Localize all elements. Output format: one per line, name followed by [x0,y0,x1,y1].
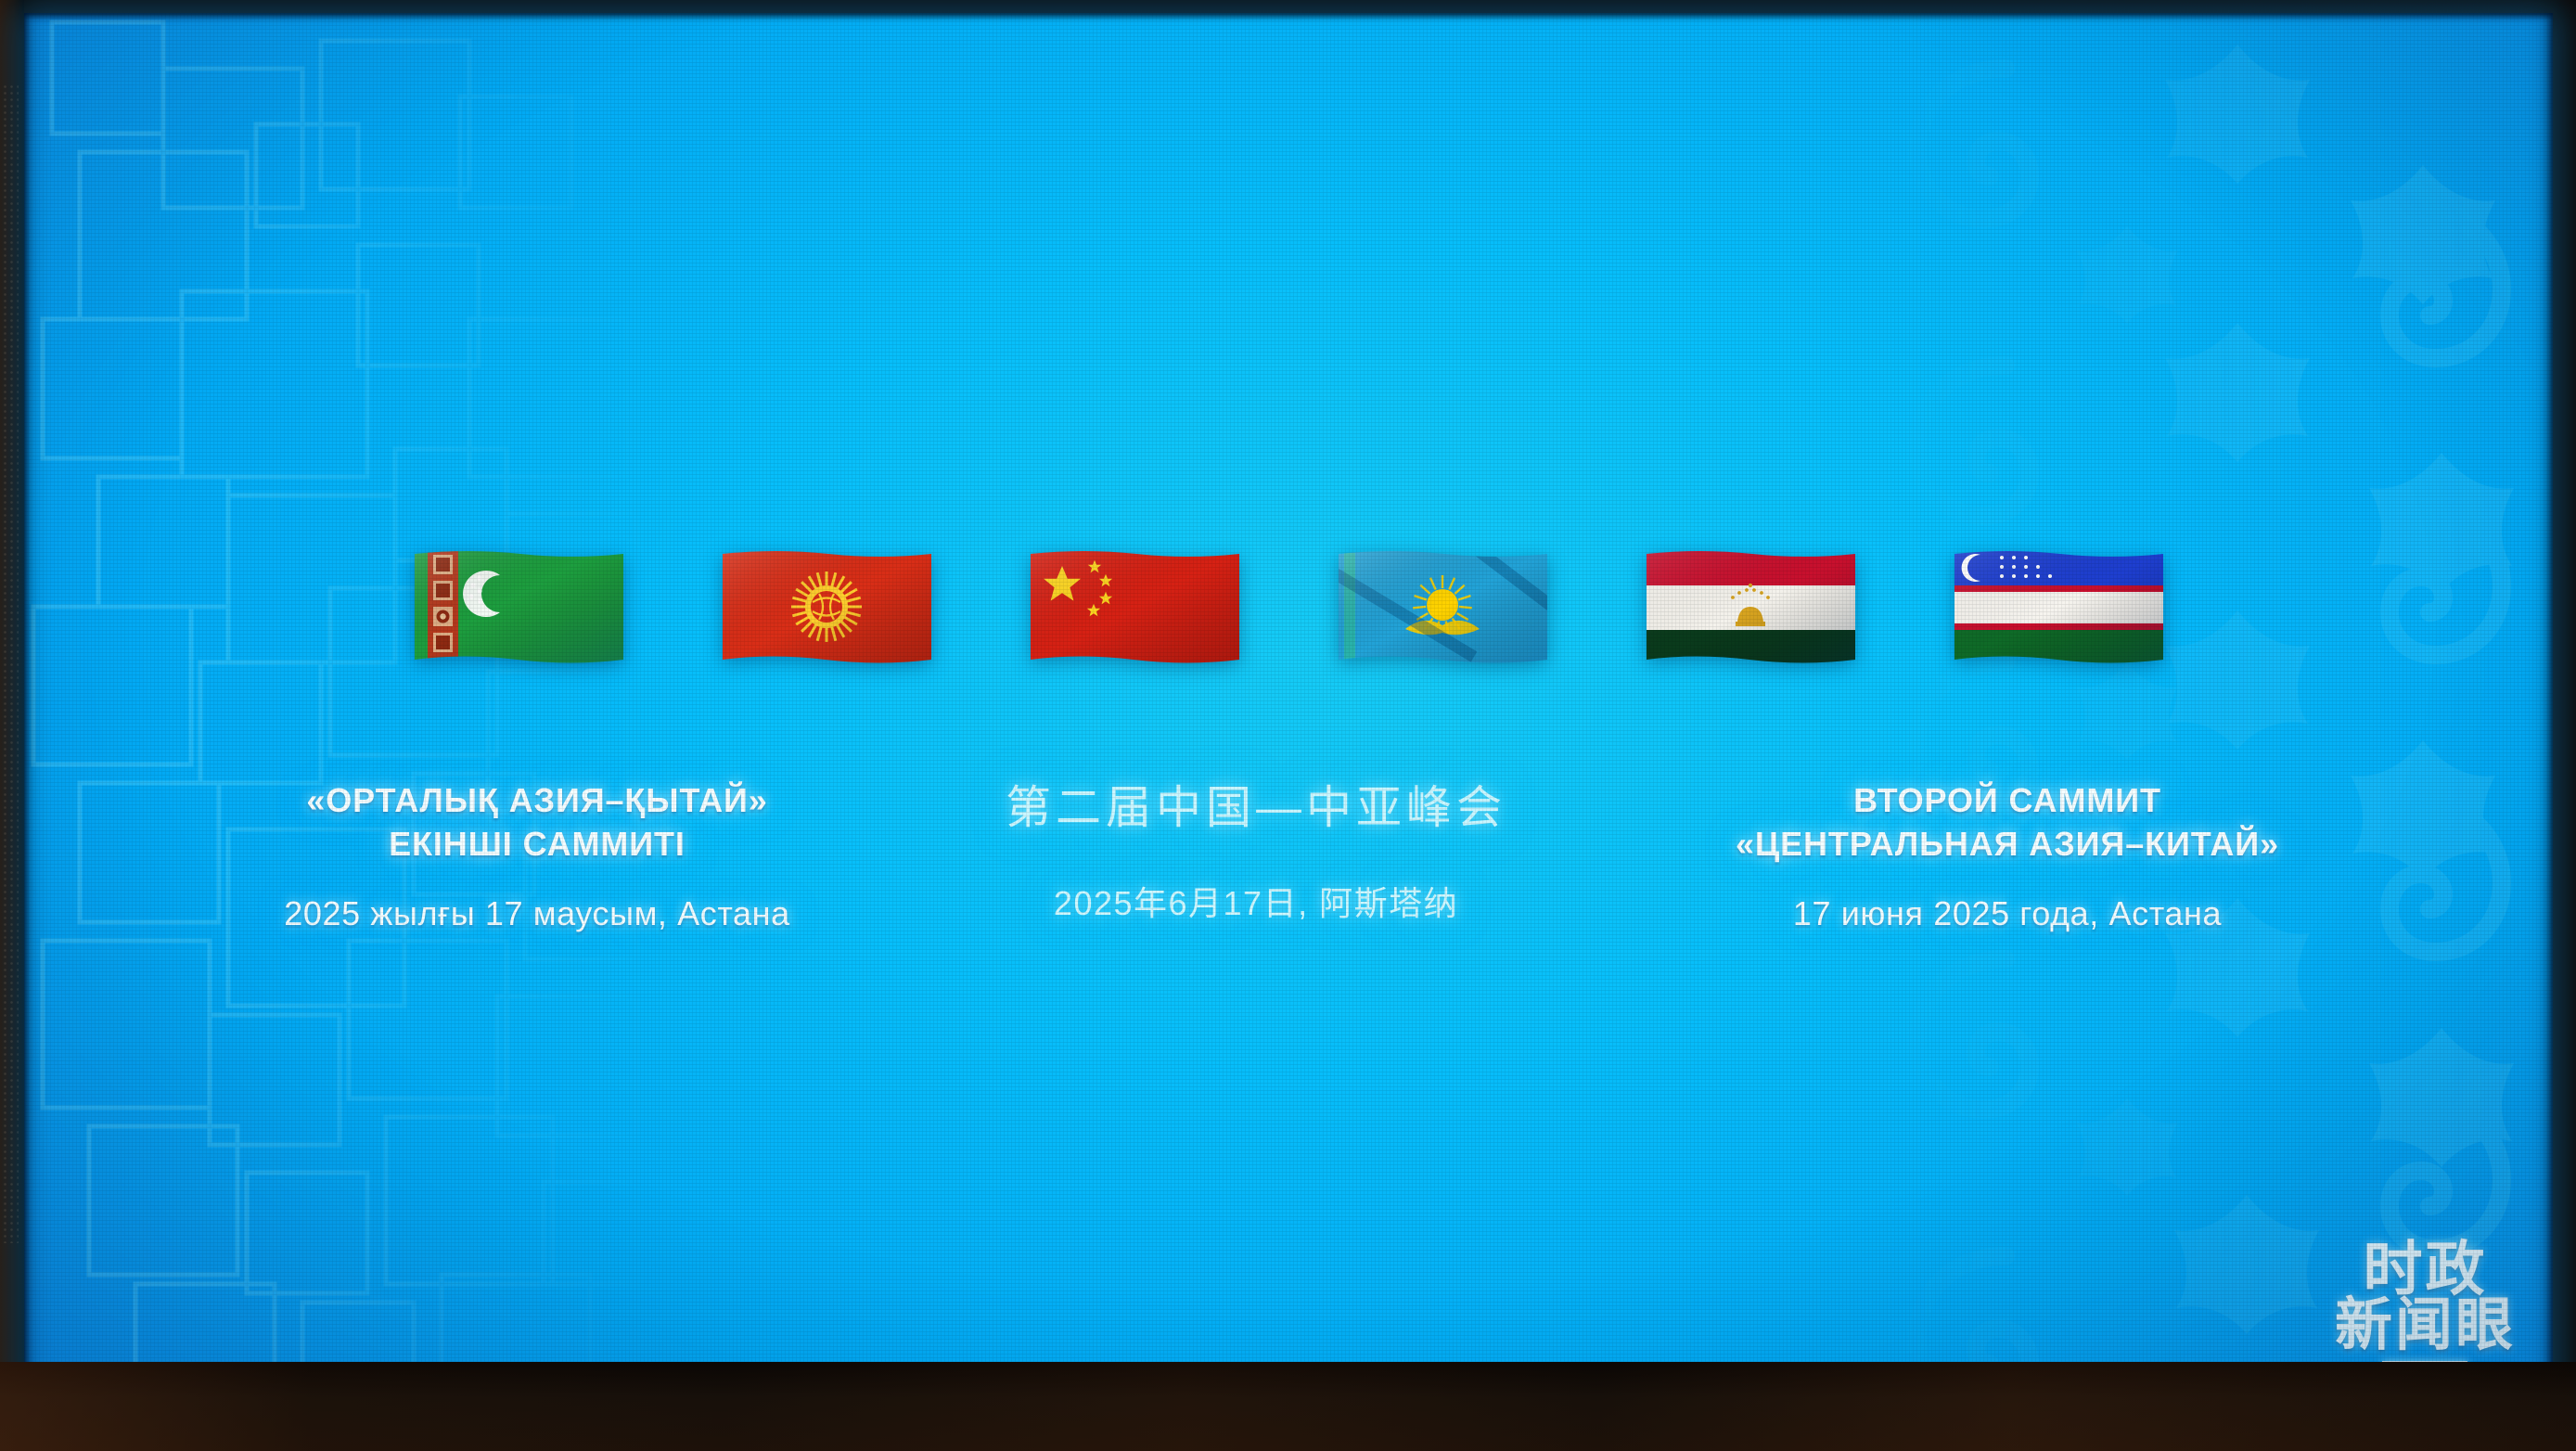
chinese-date: 2025年6月17日, 阿斯塔纳 [1054,877,1458,925]
kyrgyzstan-flag [719,547,935,666]
kazakhstan-flag [1335,547,1551,666]
screen-bezel-bottom [0,1362,2576,1451]
broadcast-watermark: 时政 新闻眼 [2335,1240,2516,1369]
kazakh-ornament-pattern [1848,13,2553,1403]
russian-title-line1: ВТОРОЙ САММИТ [1853,781,2161,819]
stage-floor [0,1362,2576,1451]
summit-flag-row [24,547,2553,666]
china-flag [1027,547,1243,666]
screen-bezel-left [0,0,24,1403]
kazakh-title-line2: ЕКІНШІ САММИТІ [389,825,686,863]
russian-column: ВТОРОЙ САММИТ «ЦЕНТРАЛЬНАЯ АЗИЯ–КИТАЙ» 1… [1608,779,2406,933]
summit-title-block: «ОРТАЛЫҚ АЗИЯ–ҚЫТАЙ» ЕКІНШІ САММИТІ 2025… [24,779,2553,933]
tajikistan-flag [1643,547,1859,666]
chinese-column: 第二届中国—中亚峰会 2025年6月17日, 阿斯塔纳 [904,779,1608,925]
russian-title: ВТОРОЙ САММИТ «ЦЕНТРАЛЬНАЯ АЗИЯ–КИТАЙ» [1736,779,2279,867]
geometric-lattice-pattern [24,13,655,1403]
turkmenistan-flag [411,547,627,666]
watermark-line1: 时政 [2363,1240,2487,1299]
room-photo: «ОРТАЛЫҚ АЗИЯ–ҚЫТАЙ» ЕКІНШІ САММИТІ 2025… [0,0,2576,1451]
chinese-title: 第二届中国—中亚峰会 [1006,779,1506,839]
kazakh-title: «ОРТАЛЫҚ АЗИЯ–ҚЫТАЙ» ЕКІНШІ САММИТІ [306,779,767,867]
uzbekistan-flag [1951,547,2167,666]
kazakh-title-line1: «ОРТАЛЫҚ АЗИЯ–ҚЫТАЙ» [306,781,767,819]
kazakh-date: 2025 жылғы 17 маусым, Астана [284,894,790,933]
speaker-grille [2,83,19,1243]
russian-date: 17 июня 2025 года, Астана [1793,894,2222,933]
russian-title-line2: «ЦЕНТРАЛЬНАЯ АЗИЯ–КИТАЙ» [1736,825,2279,863]
kazakh-column: «ОРТАЛЫҚ АЗИЯ–ҚЫТАЙ» ЕКІНШІ САММИТІ 2025… [171,779,904,933]
watermark-line2: 新闻眼 [2335,1298,2516,1355]
led-display-screen: «ОРТАЛЫҚ АЗИЯ–ҚЫТАЙ» ЕКІНШІ САММИТІ 2025… [24,13,2553,1403]
